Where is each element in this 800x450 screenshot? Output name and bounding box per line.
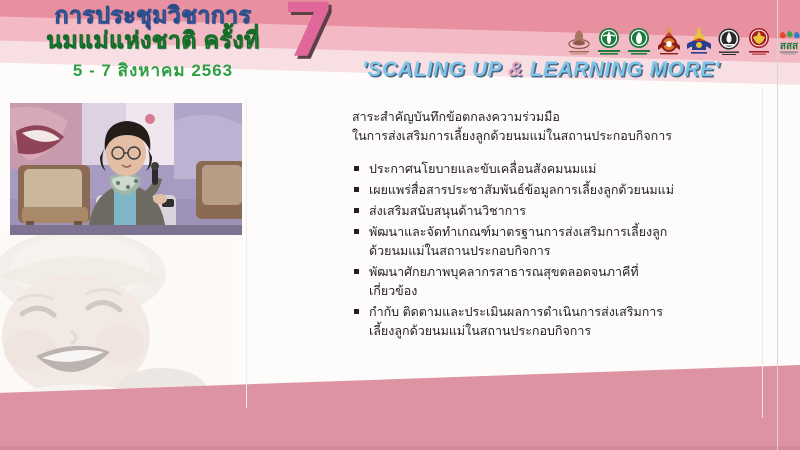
bullet-text-continued: ด้วยนมแม่ในสถานประกอบกิจการ bbox=[369, 242, 752, 261]
document-inner-edge bbox=[762, 88, 763, 418]
logo-department-health bbox=[626, 26, 652, 56]
logo-thai-emblem-blue bbox=[686, 26, 712, 56]
svg-text:สสส: สสส bbox=[780, 41, 799, 52]
column-divider bbox=[246, 98, 247, 408]
conference-title-line2: นมแม่แห่งชาติ ครั้งที่ bbox=[18, 28, 288, 53]
list-item: ส่งเสริมสนับสนุนด้านวิชาการ bbox=[352, 202, 752, 221]
presentation-slide: การประชุมวิชาการ นมแม่แห่งชาติ ครั้งที่ … bbox=[0, 0, 800, 450]
logo-red-garuda bbox=[746, 26, 772, 56]
partner-logos: สสส bbox=[566, 26, 800, 56]
tagline-ampersand: & bbox=[508, 58, 524, 81]
list-item: ประกาศนโยบายและขับเคลื่อนสังคมนมแม่ bbox=[352, 160, 752, 179]
bullet-text: ส่งเสริมสนับสนุนด้านวิชาการ bbox=[369, 204, 526, 218]
bullet-text: กำกับ ติดตามและประเมินผลการดำเนินการส่งเ… bbox=[369, 305, 663, 319]
logo-ministry-public-health bbox=[596, 26, 622, 56]
content-heading-line-2: ในการส่งเสริมการเลี้ยงลูกด้วยนมแม่ในสถาน… bbox=[352, 127, 752, 146]
logo-ministry-labour bbox=[716, 26, 742, 56]
conference-tagline: 'SCALING UP & LEARNING MORE' bbox=[362, 58, 720, 82]
list-item: เผยแพร่สื่อสารประชาสัมพันธ์ข้อมูลการเลี้… bbox=[352, 181, 752, 200]
document-right-edge bbox=[777, 0, 778, 450]
bullet-text: เผยแพร่สื่อสารประชาสัมพันธ์ข้อมูลการเลี้… bbox=[369, 183, 674, 197]
slide-content: สาระสำคัญบันทึกข้อตกลงความร่วมมือ ในการส… bbox=[352, 108, 752, 343]
tagline-prefix: 'SCALING UP bbox=[362, 58, 508, 81]
tagline-suffix: LEARNING MORE' bbox=[523, 58, 720, 81]
bullet-text: พัฒนาศักยภาพบุคลากรสาธารณสุขตลอดจนภาคีที… bbox=[369, 265, 639, 279]
content-heading: สาระสำคัญบันทึกข้อตกลงความร่วมมือ ในการส… bbox=[352, 108, 752, 147]
slide-header: การประชุมวิชาการ นมแม่แห่งชาติ ครั้งที่ … bbox=[0, 0, 800, 96]
conference-title-block: การประชุมวิชาการ นมแม่แห่งชาติ ครั้งที่ … bbox=[18, 3, 288, 84]
conference-date: 5 - 7 สิงหาคม 2563 bbox=[18, 57, 288, 84]
bullet-text: ประกาศนโยบายและขับเคลื่อนสังคมนมแม่ bbox=[369, 162, 596, 176]
bullet-text: พัฒนาและจัดทำเกณฑ์มาตรฐานการส่งเสริมการเ… bbox=[369, 225, 667, 239]
list-item: พัฒนาและจัดทำเกณฑ์มาตรฐานการส่งเสริมการเ… bbox=[352, 223, 752, 261]
mou-bullet-list: ประกาศนโยบายและขับเคลื่อนสังคมนมแม่ เผยแ… bbox=[352, 160, 752, 341]
edition-number: 7 bbox=[283, 0, 335, 68]
logo-thai-emblem-orange bbox=[656, 26, 682, 56]
logo-thaihealth-sss: สสส bbox=[776, 26, 800, 56]
content-heading-line-1: สาระสำคัญบันทึกข้อตกลงความร่วมมือ bbox=[352, 108, 752, 127]
logo-royal-seal bbox=[566, 26, 592, 56]
list-item: พัฒนาศักยภาพบุคลากรสาธารณสุขตลอดจนภาคีที… bbox=[352, 263, 752, 301]
speaker-video-thumbnail[interactable] bbox=[10, 103, 242, 235]
conference-title-line1: การประชุมวิชาการ bbox=[18, 3, 288, 27]
bullet-text-continued: เกี่ยวข้อง bbox=[369, 282, 752, 301]
bottom-edge-strip bbox=[0, 446, 800, 450]
bullet-text-continued: เลี้ยงลูกด้วยนมแม่ในสถานประกอบกิจการ bbox=[369, 322, 752, 341]
list-item: กำกับ ติดตามและประเมินผลการดำเนินการส่งเ… bbox=[352, 303, 752, 341]
